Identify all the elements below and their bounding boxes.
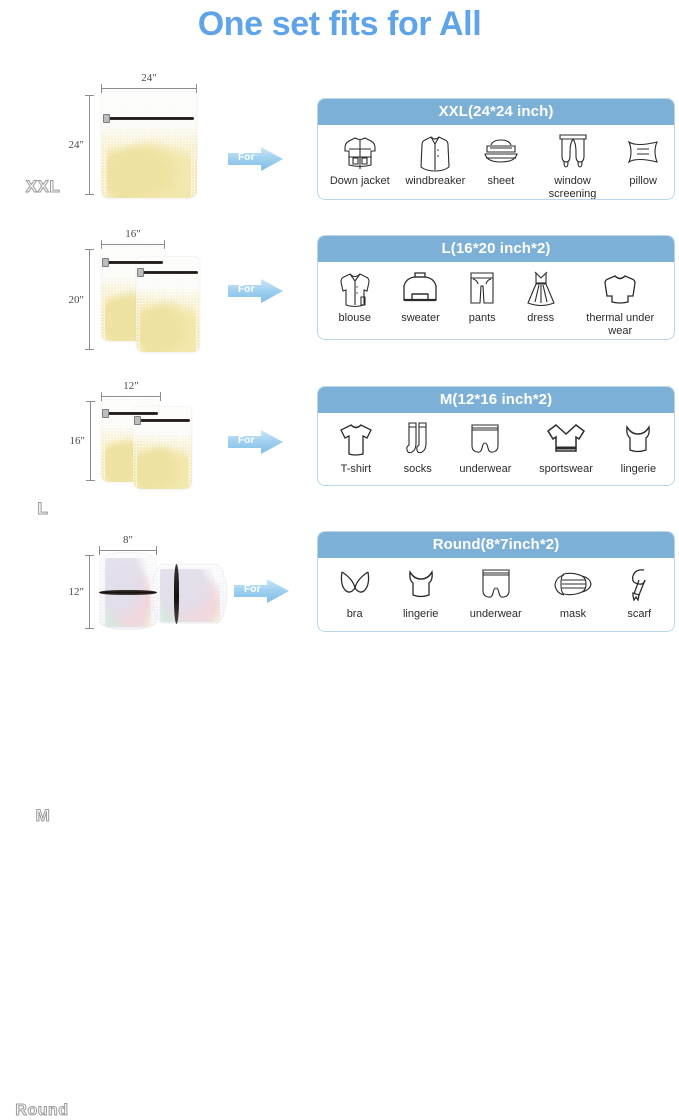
bag-zipper-pull (102, 409, 109, 418)
arrow-right-icon (234, 578, 289, 604)
dimension-line (101, 396, 161, 397)
panel-title-round: Round(8*7inch*2) (318, 532, 674, 558)
panel-title-l: L(16*20 inch*2) (318, 236, 674, 262)
height-dimension-round: 12" (56, 555, 90, 629)
sweater-icon (401, 268, 439, 310)
item-label: bra (347, 608, 363, 621)
page-title: One set fits for All (0, 2, 679, 46)
height-dimension-m: 16" (57, 401, 91, 481)
item-tshirt: T-shirt (335, 419, 377, 476)
item-label: thermal under wear (584, 312, 656, 338)
item-label: socks (404, 463, 432, 476)
underwear-icon (469, 419, 501, 461)
item-label: underwear (459, 463, 511, 476)
for-arrow-round: For (234, 578, 289, 604)
dimension-line (90, 401, 91, 481)
size-label-round: Round (0, 1102, 88, 1120)
width-dimension-value: 12" (101, 380, 161, 392)
arrow-label: For (238, 152, 255, 163)
item-label: pants (469, 312, 496, 325)
bag-zipper (103, 412, 158, 415)
round-laundry-bag-photo (99, 552, 157, 630)
tshirt-icon (336, 419, 376, 461)
item-label: lingerie (621, 463, 656, 476)
blouse-icon (336, 268, 374, 310)
round-laundry-bag-photo (152, 564, 227, 624)
for-arrow-xxl: For (228, 146, 283, 172)
item-label: T-shirt (341, 463, 372, 476)
category-panel-xxl: XXL(24*24 inch) Down jacket (317, 98, 675, 200)
panel-title-xxl: XXL(24*24 inch) (318, 99, 674, 125)
bag-zipper-pull (103, 114, 110, 123)
laundry-bag-photo (136, 256, 200, 352)
scarf-icon (624, 564, 654, 606)
dress-icon (525, 268, 557, 310)
item-label: sportswear (539, 463, 593, 476)
category-panel-m: M(12*16 inch*2) T-shirt socks (317, 386, 675, 486)
bag-zipper-pull (102, 258, 109, 267)
item-label: Down jacket (330, 175, 390, 188)
item-mask: mask (552, 564, 594, 621)
width-dimension-value: 16" (101, 228, 165, 240)
dimension-line (89, 95, 90, 195)
dimension-line (99, 550, 157, 551)
height-dimension-xxl: 24" (56, 95, 90, 195)
item-label: sweater (401, 312, 440, 325)
lingerie-icon (405, 564, 437, 606)
arrow-label: For (238, 284, 255, 295)
socks-icon (404, 419, 432, 461)
pants-icon (467, 268, 497, 310)
item-dress: dress (524, 268, 558, 325)
height-dimension-value: 24" (69, 139, 85, 151)
height-dimension-value: 12" (69, 586, 85, 598)
item-lingerie: lingerie (620, 419, 657, 476)
dimension-line (89, 249, 90, 350)
item-label: blouse (339, 312, 371, 325)
width-dimension-m: 12" (101, 382, 161, 400)
item-underwear: underwear (458, 419, 512, 476)
arrow-label: For (238, 435, 255, 446)
bag-zipper (174, 564, 179, 624)
dimension-line (101, 244, 165, 245)
arrow-right-icon (228, 146, 283, 172)
item-label: pillow (629, 175, 657, 188)
down-jacket-icon (340, 131, 380, 173)
arrow-label: For (244, 584, 261, 595)
item-pillow: pillow (623, 131, 663, 188)
item-lingerie: lingerie (402, 564, 439, 621)
bag-zipper-pull (134, 416, 141, 425)
panel-item-list: bra lingerie underwear (318, 558, 674, 621)
item-sweater: sweater (400, 268, 441, 325)
bra-icon (338, 564, 372, 606)
laundry-bag-photo (133, 406, 192, 489)
panel-item-list: blouse sweater (318, 262, 674, 338)
category-panel-round: Round(8*7inch*2) bra lingerie (317, 531, 675, 632)
item-scarf: scarf (623, 564, 655, 621)
arrow-right-icon (228, 429, 283, 455)
item-sheet: sheet (480, 131, 522, 188)
bag-zipper-pull (137, 268, 144, 277)
thermal-underwear-icon (602, 268, 638, 310)
item-label: windbreaker (405, 175, 465, 188)
item-label: mask (560, 608, 586, 621)
mask-icon (553, 564, 593, 606)
item-thermal-underwear: thermal under wear (583, 268, 657, 338)
width-dimension-value: 8" (99, 534, 157, 546)
height-dimension-value: 16" (70, 435, 86, 447)
item-windbreaker: windbreaker (404, 131, 466, 188)
width-dimension-xxl: 24" (101, 74, 197, 92)
height-dimension-l: 20" (56, 249, 90, 350)
size-label-m: M (0, 806, 86, 826)
pillow-icon (624, 131, 662, 173)
lingerie-icon (622, 419, 654, 461)
item-socks: socks (403, 419, 433, 476)
item-underwear: underwear (469, 564, 523, 621)
sportswear-icon (546, 419, 586, 461)
dimension-line (101, 88, 197, 89)
panel-item-list: T-shirt socks underwear (318, 413, 674, 476)
bag-zipper (138, 271, 198, 274)
sheet-icon (481, 131, 521, 173)
item-down-jacket: Down jacket (329, 131, 391, 188)
panel-title-m: M(12*16 inch*2) (318, 387, 674, 413)
item-bra: bra (337, 564, 373, 621)
panel-item-list: Down jacket windbreaker (318, 125, 674, 200)
item-pants: pants (466, 268, 498, 325)
item-label: lingerie (403, 608, 438, 621)
item-label: sheet (487, 175, 514, 188)
laundry-bag-photo (101, 91, 197, 198)
item-label: dress (527, 312, 554, 325)
item-label: underwear (470, 608, 522, 621)
bag-zipper (104, 117, 194, 120)
bag-zipper (99, 590, 157, 595)
item-window-screening: window screening (536, 131, 610, 200)
bag-zipper (135, 419, 190, 422)
height-dimension-value: 20" (69, 294, 85, 306)
bag-zipper (103, 261, 163, 264)
for-arrow-l: For (228, 278, 283, 304)
category-panel-l: L(16*20 inch*2) blouse (317, 235, 675, 340)
windbreaker-icon (418, 131, 452, 173)
arrow-right-icon (228, 278, 283, 304)
underwear-icon (480, 564, 512, 606)
item-label: scarf (627, 608, 651, 621)
item-blouse: blouse (335, 268, 375, 325)
dimension-line (89, 555, 90, 629)
item-label: window screening (537, 175, 609, 200)
window-screening-icon (557, 131, 589, 173)
item-sportswear: sportswear (538, 419, 594, 476)
width-dimension-value: 24" (101, 72, 197, 84)
for-arrow-m: For (228, 429, 283, 455)
